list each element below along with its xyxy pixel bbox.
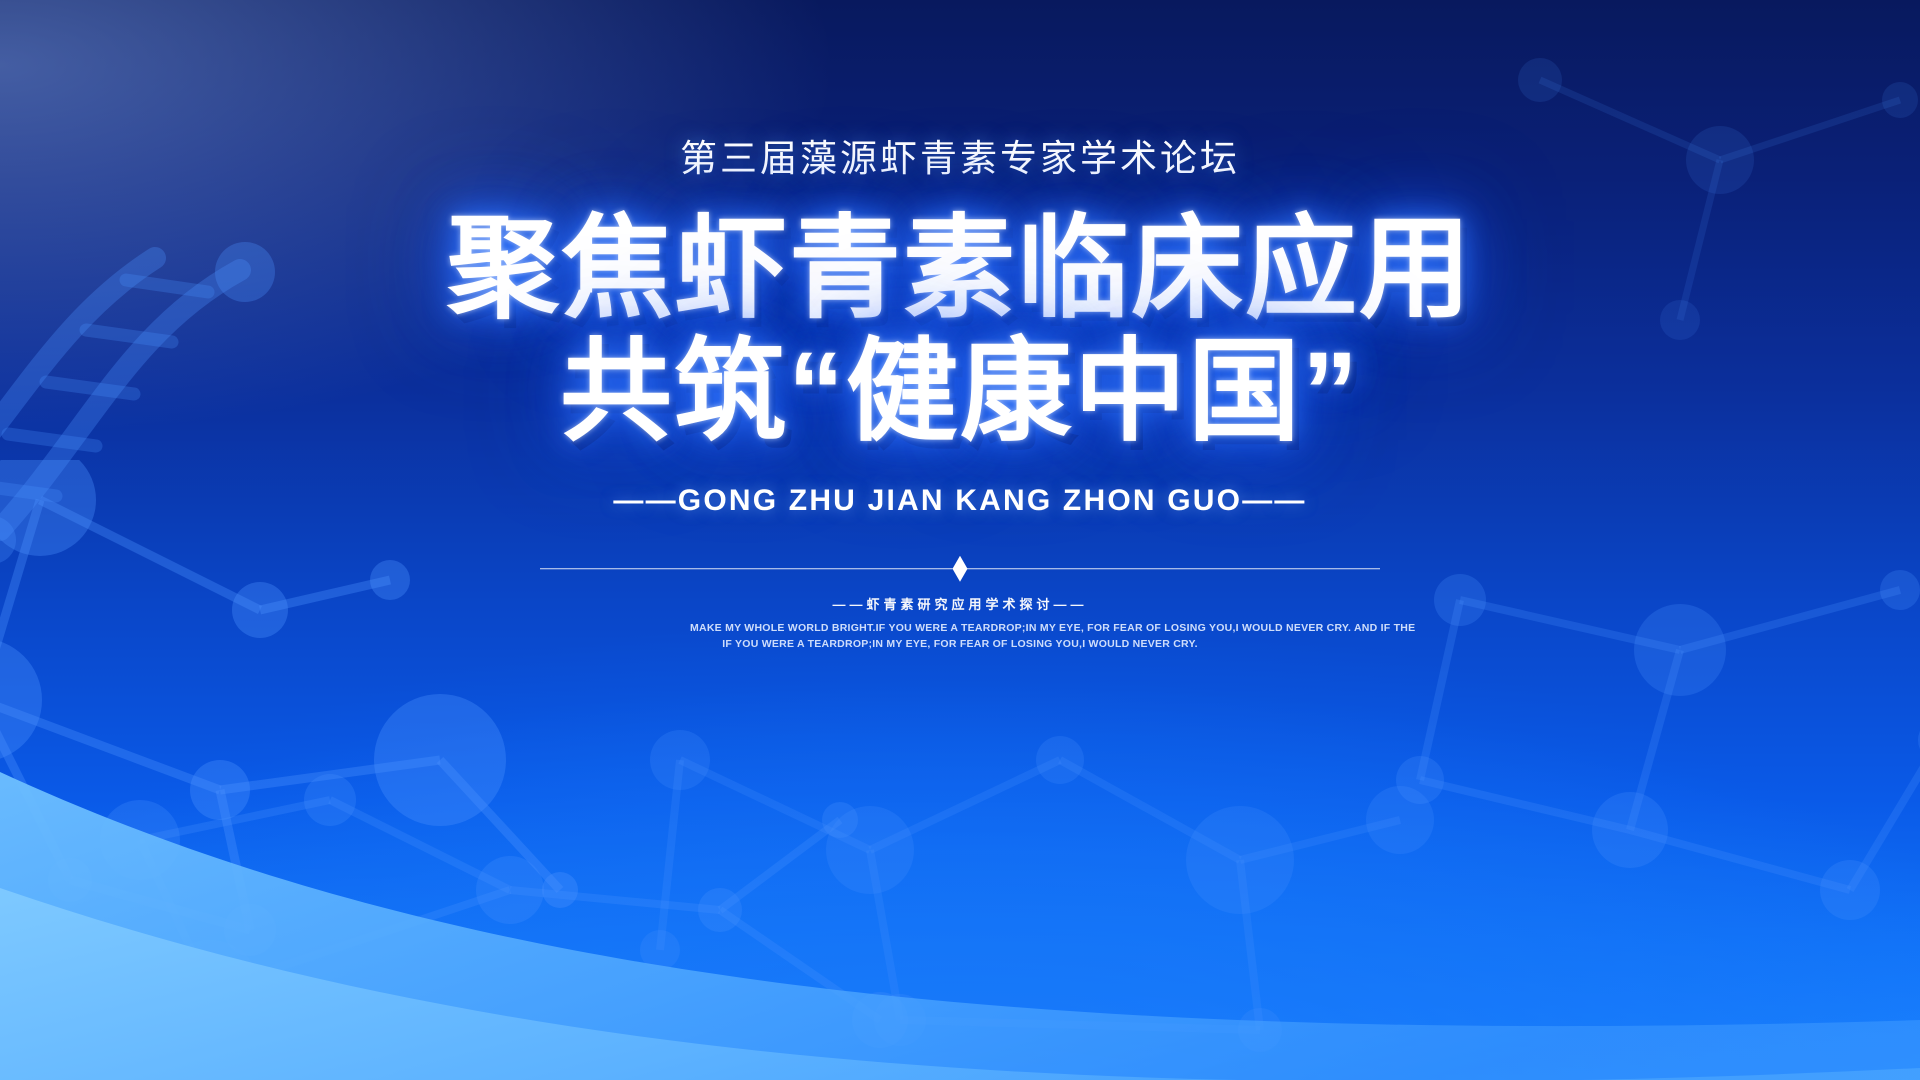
blurb: MAKE MY WHOLE WORLD BRIGHT.IF YOU WERE A… xyxy=(690,620,1230,653)
title-pinyin: ——GONG ZHU JIAN KANG ZHON GUO—— xyxy=(613,484,1306,518)
title-line-1: 聚焦虾青素临床应用 xyxy=(447,211,1473,326)
poster-canvas: 第三届藻源虾青素专家学术论坛 聚焦虾青素临床应用 共筑“健康中国” ——GONG… xyxy=(0,0,1920,1080)
divider xyxy=(540,560,1380,578)
event-subtitle: 第三届藻源虾青素专家学术论坛 xyxy=(680,140,1240,177)
poster-content: 第三届藻源虾青素专家学术论坛 聚焦虾青素临床应用 共筑“健康中国” ——GONG… xyxy=(0,0,1920,1080)
page-title: 聚焦虾青素临床应用 共筑“健康中国” xyxy=(447,211,1473,450)
blurb-line-1: MAKE MY WHOLE WORLD BRIGHT.IF YOU WERE A… xyxy=(690,620,1230,636)
blurb-line-2: IF YOU WERE A TEARDROP;IN MY EYE, FOR FE… xyxy=(690,636,1230,652)
tagline: ——虾青素研究应用学术探讨—— xyxy=(832,594,1087,613)
title-line-2: 共筑“健康中国” xyxy=(447,334,1473,449)
diamond-icon xyxy=(953,556,968,582)
